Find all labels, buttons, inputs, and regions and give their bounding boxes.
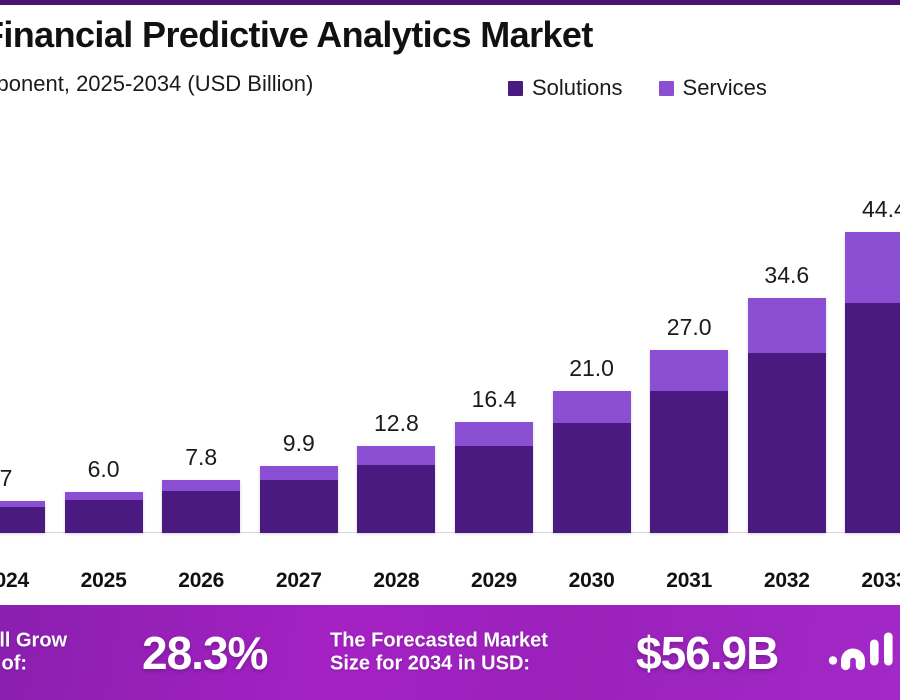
stacked-bar[interactable] — [0, 501, 45, 533]
bar-segment-solutions[interactable] — [260, 480, 338, 533]
bar-segment-solutions[interactable] — [553, 423, 631, 534]
x-axis-label-2027: 2027 — [276, 569, 322, 593]
bar-segment-solutions[interactable] — [357, 465, 435, 533]
page-title: Financial Predictive Analytics Market — [0, 14, 593, 56]
bar-segment-services[interactable] — [260, 466, 338, 480]
bar-value-label: 34.6 — [764, 262, 809, 289]
forecast-caption-line1: The Forecasted Market — [330, 629, 548, 653]
x-axis-label-2026: 2026 — [178, 569, 224, 593]
legend-label: Solutions — [532, 75, 623, 101]
stacked-bar[interactable] — [162, 480, 240, 533]
x-axis-label-2033: 2033 — [861, 569, 900, 593]
cagr-caption-line2: GR of: — [0, 653, 67, 677]
x-axis-label-2029: 2029 — [471, 569, 517, 593]
bar-segment-solutions[interactable] — [162, 491, 240, 533]
bar-segment-solutions[interactable] — [0, 507, 45, 533]
bar-segment-services[interactable] — [748, 298, 826, 352]
legend-item-solutions[interactable]: Solutions — [508, 75, 623, 101]
stacked-bar[interactable] — [650, 350, 728, 533]
bar-segment-services[interactable] — [455, 422, 533, 446]
stacked-bar[interactable] — [260, 466, 338, 533]
cagr-caption-line1: t will Grow — [0, 629, 67, 653]
brand-logo-icon: ® — [826, 627, 900, 678]
bar-value-label: 44.4 — [862, 196, 900, 223]
x-axis-label-2028: 2028 — [373, 569, 419, 593]
bar-segment-services[interactable] — [357, 446, 435, 465]
x-axis-label-2025: 2025 — [81, 569, 127, 593]
bar-value-label: 16.4 — [472, 386, 517, 413]
bar-segment-services[interactable] — [845, 232, 900, 303]
bar-value-label: 7.8 — [185, 444, 217, 471]
legend-item-services[interactable]: Services — [659, 75, 767, 101]
stacked-bar[interactable] — [845, 232, 900, 533]
stacked-bar[interactable] — [357, 446, 435, 533]
forecast-value: $56.9B — [636, 626, 778, 680]
stacked-bar[interactable] — [748, 298, 826, 533]
bar-segment-solutions[interactable] — [65, 500, 143, 533]
services-swatch-icon — [659, 81, 674, 96]
stacked-bar[interactable] — [455, 422, 533, 533]
stacked-bar[interactable] — [65, 492, 143, 533]
chart-legend: SolutionsServices — [508, 75, 767, 101]
infographic-root: Financial Predictive Analytics Market om… — [0, 0, 900, 700]
forecast-caption-line2: Size for 2034 in USD: — [330, 653, 548, 677]
solutions-swatch-icon — [508, 81, 523, 96]
x-axis-label-2024: 2024 — [0, 569, 29, 593]
chart-subtitle: omponent, 2025-2034 (USD Billion) — [0, 71, 313, 97]
bar-segment-solutions[interactable] — [748, 353, 826, 533]
x-axis-label-2030: 2030 — [569, 569, 615, 593]
bar-segment-services[interactable] — [553, 391, 631, 423]
cagr-value: 28.3% — [142, 626, 267, 680]
bar-segment-solutions[interactable] — [650, 391, 728, 533]
bar-segment-services[interactable] — [162, 480, 240, 491]
forecast-caption-block: The Forecasted Market Size for 2034 in U… — [330, 629, 548, 676]
legend-label: Services — [683, 75, 767, 101]
bar-segment-services[interactable] — [650, 350, 728, 391]
stats-banner: t will Grow GR of: 28.3% The Forecasted … — [0, 605, 900, 700]
bar-value-label: 12.8 — [374, 410, 419, 437]
bar-segment-solutions[interactable] — [455, 446, 533, 533]
x-axis-label-2032: 2032 — [764, 569, 810, 593]
bar-segment-solutions[interactable] — [845, 303, 900, 533]
bar-value-label: 27.0 — [667, 314, 712, 341]
stacked-bar[interactable] — [553, 391, 631, 533]
bar-value-label: 21.0 — [569, 355, 614, 382]
chart-header: Financial Predictive Analytics Market om… — [0, 5, 900, 110]
bar-value-label: 7 — [0, 465, 12, 492]
bar-segment-services[interactable] — [65, 492, 143, 500]
chart-plot-area: 720246.020257.820269.9202712.8202816.420… — [0, 110, 900, 605]
x-axis-label-2031: 2031 — [666, 569, 712, 593]
bar-value-label: 6.0 — [88, 456, 120, 483]
bar-value-label: 9.9 — [283, 430, 315, 457]
cagr-caption-block: t will Grow GR of: — [0, 629, 67, 676]
